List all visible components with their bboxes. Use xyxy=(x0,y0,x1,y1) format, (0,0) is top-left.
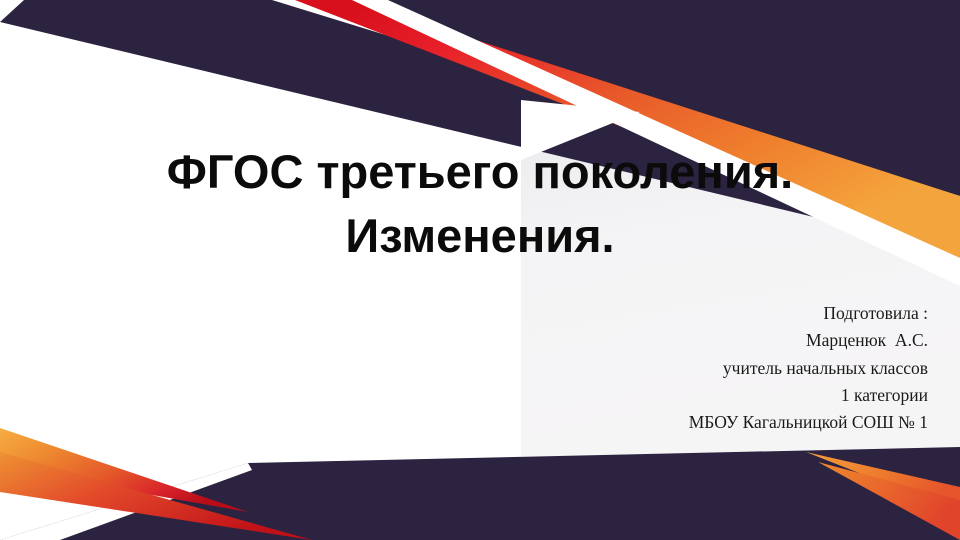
subtitle-line-5: МБОУ Кагальницкой СОШ № 1 xyxy=(408,409,928,436)
title-slide: ФГОС третьего поколения. Изменения. Подг… xyxy=(0,0,960,540)
slide-subtitle: Подготовила : Марценюк А.С. учитель нача… xyxy=(408,300,928,436)
slide-content: ФГОС третьего поколения. Изменения. Подг… xyxy=(0,0,960,540)
subtitle-line-4: 1 категории xyxy=(408,382,928,409)
slide-title: ФГОС третьего поколения. Изменения. xyxy=(40,140,920,268)
subtitle-line-2: Марценюк А.С. xyxy=(408,327,928,354)
subtitle-line-3: учитель начальных классов xyxy=(408,355,928,382)
subtitle-line-1: Подготовила : xyxy=(408,300,928,327)
